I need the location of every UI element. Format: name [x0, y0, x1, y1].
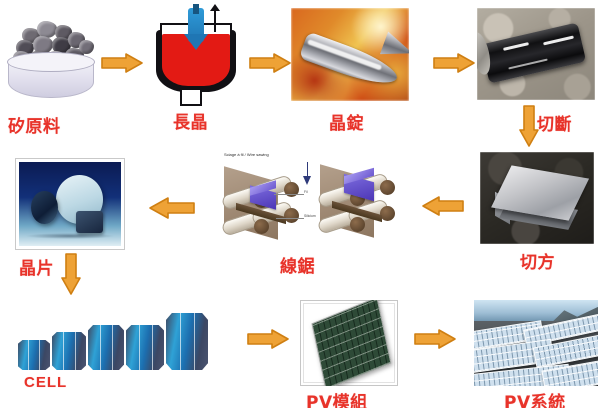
arrow-cropping-to-squaring [518, 104, 540, 148]
arrow-growth-to-ingot [248, 52, 292, 74]
step-label-crystal-growth: 長晶 [173, 108, 208, 133]
arrow-ingot-to-cropping [432, 52, 476, 74]
step-label-cropping: 切斷 [537, 110, 572, 135]
arrow-cell-to-module [246, 328, 290, 350]
step-pv-module: PV模組 [300, 300, 404, 404]
step-label-wafer: 晶片 [19, 254, 54, 279]
pv-farm-photo [474, 300, 598, 386]
arrow-wiresaw-to-wafer [148, 196, 196, 220]
wire-saw-note-bottom: Silicium [304, 214, 316, 218]
silicon-ingot-photo [291, 8, 409, 101]
arrow-feedstock-to-growth [100, 52, 144, 74]
process-flow-diagram: 矽原料 長晶 晶錠 [0, 0, 600, 408]
step-label-silicon-feedstock: 矽原料 [8, 112, 61, 137]
step-squaring: 切方 [480, 152, 596, 250]
step-pv-system: PV系統 [474, 300, 600, 404]
step-label-squaring: 切方 [520, 248, 555, 273]
black-cylinder-photo [477, 8, 595, 100]
wire-saw-unit-left [222, 166, 302, 244]
step-silicon-feedstock: 矽原料 [4, 10, 100, 102]
squared-brick-photo [480, 152, 594, 244]
arrow-squaring-to-wiresaw [421, 195, 465, 217]
wire-saw-unit-right [318, 162, 398, 242]
arrow-wafer-to-cell [60, 252, 82, 296]
step-label-pv-module: PV模組 [306, 388, 368, 408]
arrow-module-to-system [413, 328, 457, 350]
step-crystal-growth: 長晶 [148, 4, 248, 104]
step-label-cell: CELL [24, 374, 67, 391]
step-label-ingot: 晶錠 [329, 109, 364, 134]
step-ingot: 晶錠 [291, 8, 411, 104]
step-cropping: 切斷 [477, 8, 597, 104]
step-cell: CELL [18, 300, 238, 400]
pv-module-photo [300, 300, 398, 386]
step-label-wire-saw: 線鋸 [280, 252, 315, 277]
wafer-artwork [15, 158, 125, 250]
step-wire-saw: Sciage à fil / Wire sawing [214, 148, 404, 268]
silicon-chunks-in-dish-icon [4, 10, 100, 98]
wire-saw-note-top: Fil [304, 190, 308, 194]
czochralski-puller-icon [148, 4, 248, 108]
wire-saw-caption: Sciage à fil / Wire sawing [224, 152, 269, 157]
step-label-pv-system: PV系統 [504, 388, 566, 408]
solar-cell-sizes-icon [18, 300, 238, 370]
wire-saw-diagram: Sciage à fil / Wire sawing [214, 148, 404, 256]
